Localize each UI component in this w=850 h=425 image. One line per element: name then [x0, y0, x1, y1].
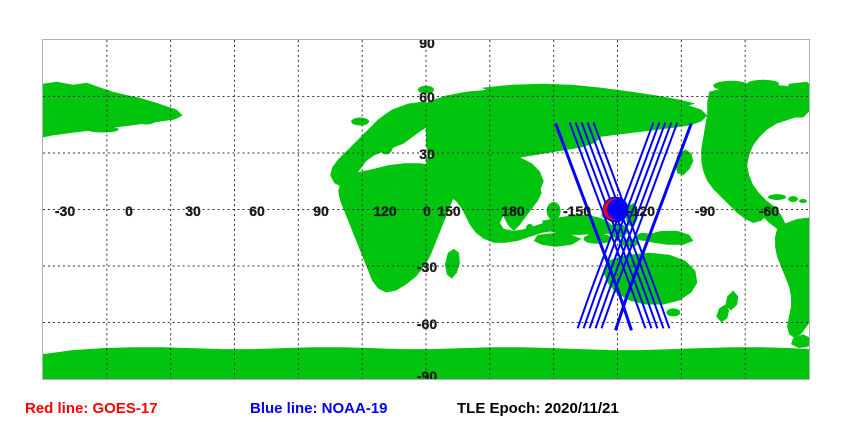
figure-legend: Red line: GOES-17 Blue line: NOAA-19 TLE… — [0, 392, 850, 425]
land-kamchatka-tip — [137, 115, 157, 125]
lon-label-90: 90 — [313, 204, 329, 218]
lon-label-180: 180 — [501, 204, 524, 218]
lon-label-30: 30 — [185, 204, 201, 218]
lat-label-30: 30 — [419, 147, 435, 161]
world-map-panel: 90 60 30 0 -30 -60 -90 -30 0 30 60 90 12… — [42, 39, 810, 380]
land-british-isles — [379, 136, 393, 154]
lon-label-60: 60 — [249, 204, 265, 218]
lon-label--60: -60 — [759, 204, 779, 218]
land-aleutians-b — [87, 126, 119, 132]
lon-label--30: -30 — [55, 204, 75, 218]
lon-label-150: 150 — [437, 204, 460, 218]
land-aleutians-a — [45, 123, 85, 129]
goes17-marker — [603, 197, 629, 223]
land-sri-lanka — [526, 224, 534, 234]
lat-label-90: 90 — [419, 39, 435, 50]
lat-label--90: -90 — [417, 369, 437, 380]
lat-label--60: -60 — [417, 317, 437, 331]
lat-label--30: -30 — [417, 260, 437, 274]
lat-label-60: 60 — [419, 90, 435, 104]
lon-label--120: -120 — [627, 204, 655, 218]
lat-label-0: 0 — [423, 204, 431, 218]
legend-tle-epoch: TLE Epoch: 2020/11/21 — [457, 401, 619, 416]
land-tasmania — [666, 308, 680, 316]
land-iceland — [351, 118, 369, 126]
legend-noaa19: Blue line: NOAA-19 — [250, 401, 388, 416]
legend-goes17: Red line: GOES-17 — [25, 401, 158, 416]
lon-label-0: 0 — [125, 204, 133, 218]
satellite-track-map-figure: 90 60 30 0 -30 -60 -90 -30 0 30 60 90 12… — [0, 0, 850, 425]
lon-label-120: 120 — [373, 204, 396, 218]
lon-label--90: -90 — [695, 204, 715, 218]
lon-label--150: -150 — [563, 204, 591, 218]
